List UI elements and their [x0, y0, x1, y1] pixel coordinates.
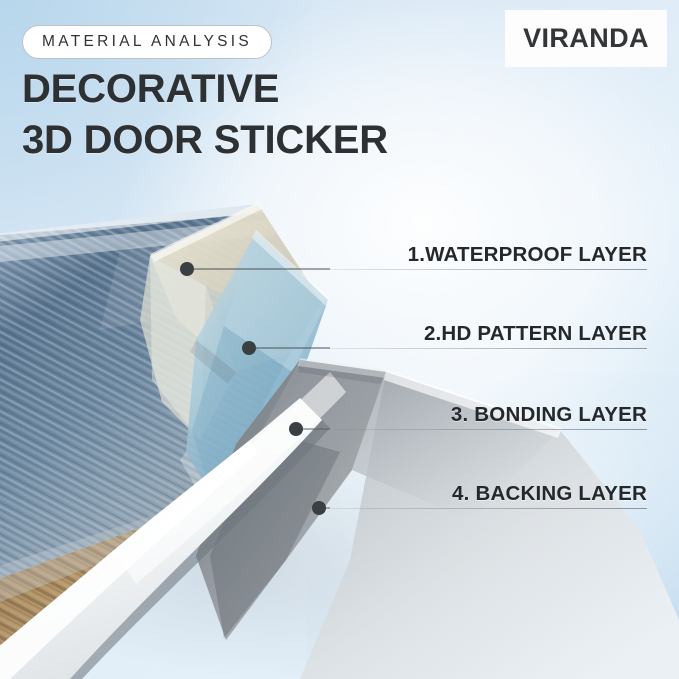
- callout-label-backing-layer: 4. BACKING LAYER: [452, 482, 647, 506]
- callout-label-bonding-layer: 3. BONDING LAYER: [451, 403, 647, 427]
- callout-rule-1: [330, 269, 647, 270]
- callout-rule-4: [330, 508, 647, 509]
- brand-logo-text: VIRANDA: [523, 23, 649, 54]
- page-title: DECORATIVE 3D DOOR STICKER: [22, 64, 388, 166]
- brand-logo: VIRANDA: [505, 10, 667, 67]
- material-analysis-badge: MATERIAL ANALYSIS: [22, 25, 272, 59]
- callout-label-hd-pattern-layer: 2.HD PATTERN LAYER: [424, 322, 647, 346]
- callout-rule-3: [330, 429, 647, 430]
- title-line-2: 3D DOOR STICKER: [22, 115, 388, 166]
- callout-rule-2: [330, 348, 647, 349]
- callout-label-waterproof-layer: 1.WATERPROOF LAYER: [408, 243, 647, 267]
- title-line-1: DECORATIVE: [22, 67, 279, 111]
- poster-canvas: MATERIAL ANALYSIS DECORATIVE 3D DOOR STI…: [0, 0, 679, 679]
